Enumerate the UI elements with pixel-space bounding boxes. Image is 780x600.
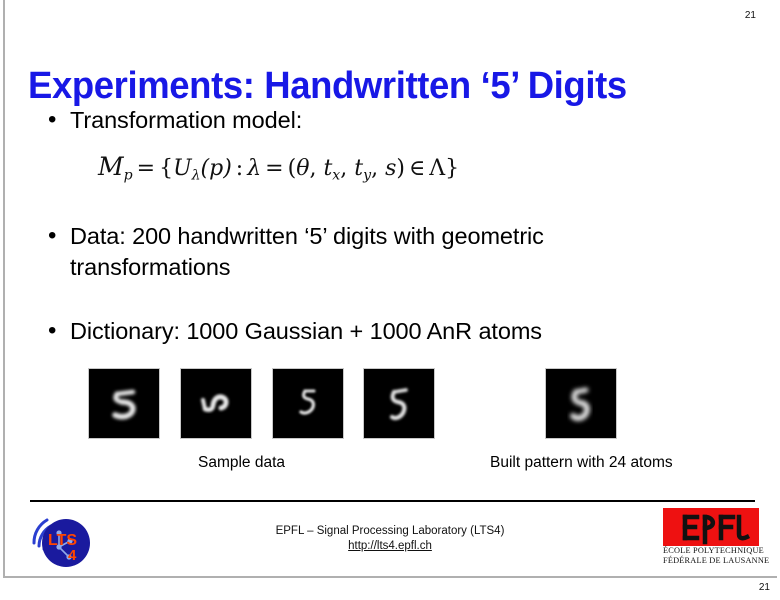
svg-text:4: 4 [68, 547, 77, 564]
formula-s: s [385, 156, 396, 181]
sample-digit-2 [181, 369, 251, 438]
digit-glyph-2 [181, 369, 251, 438]
epfl-logo: ÉCOLE POLYTECHNIQUE FÉDÉRALE DE LAUSANNE [663, 508, 759, 570]
formula-ty-subscript: y [363, 168, 371, 184]
built-pattern [546, 369, 616, 438]
digit-glyph-4 [364, 369, 434, 438]
formula-colon: : [232, 156, 247, 181]
sample-digit-3 [273, 369, 343, 438]
digit-image-row [0, 369, 780, 439]
bullet-dot-icon: • [48, 221, 70, 251]
bullet-dot-icon: • [48, 105, 70, 135]
page-number-top: 21 [745, 10, 756, 21]
formula-U: U [173, 156, 192, 181]
bullet-text-data: Data: 200 handwritten ‘5’ digits with ge… [70, 221, 660, 283]
digit-glyph-3 [273, 369, 343, 438]
formula-tx: t [323, 156, 332, 181]
bullet-item-data: • Data: 200 handwritten ‘5’ digits with … [48, 221, 660, 283]
formula-comma-1: , [309, 156, 323, 181]
formula-manifold-symbol: M [98, 152, 124, 181]
sample-digit-4 [364, 369, 434, 438]
slide-root: 21 Experiments: Handwritten ‘5’ Digits •… [0, 0, 780, 600]
formula-element-of: ∈ [405, 156, 429, 181]
footer-website-link[interactable]: http://lts4.epfl.ch [348, 540, 432, 552]
formula-ty: t [354, 156, 363, 181]
formula-open-brace: { [159, 156, 173, 181]
formula-big-lambda: Λ [429, 156, 445, 181]
formula-comma-3: , [371, 156, 385, 181]
formula-lambda: λ [247, 156, 261, 181]
digit-glyph-1 [89, 369, 159, 438]
page-title: Experiments: Handwritten ‘5’ Digits [28, 65, 729, 108]
bullet-item-dictionary: • Dictionary: 1000 Gaussian + 1000 AnR a… [48, 316, 750, 347]
epfl-subtitle-line1: ÉCOLE POLYTECHNIQUE [663, 546, 759, 556]
slide-body: • Transformation model: • Data: 200 hand… [0, 105, 780, 347]
transformation-model-formula: Mp={Uλ(p):λ=(θ, tx, ty, s)∈Λ} [98, 152, 459, 184]
bullet-text-dictionary: Dictionary: 1000 Gaussian + 1000 AnR ato… [70, 316, 750, 347]
bullet-text-transformation-model: Transformation model: [70, 105, 750, 136]
epfl-subtitle-line2: FÉDÉRALE DE LAUSANNE [663, 556, 759, 566]
epfl-wordmark-icon [663, 508, 759, 546]
formula-manifold-subscript: p [124, 168, 133, 184]
lts4-logo: LTS 4 [28, 513, 102, 571]
formula-U-subscript: λ [192, 168, 201, 184]
digit-glyph-built [546, 369, 616, 438]
caption-sample-data: Sample data [198, 454, 285, 472]
formula-argument: (p) [201, 156, 232, 181]
formula-close-brace: } [445, 156, 459, 181]
epfl-logo-subtitle: ÉCOLE POLYTECHNIQUE FÉDÉRALE DE LAUSANNE [663, 546, 759, 566]
formula-equals: = [133, 156, 159, 181]
page-number-bottom: 21 [759, 582, 770, 593]
lts4-logo-icon: LTS 4 [28, 513, 102, 571]
formula-comma-2: , [340, 156, 354, 181]
bullet-item-transformation-model: • Transformation model: [48, 105, 750, 136]
formula-equals-2: = [261, 156, 287, 181]
bullet-dot-icon: • [48, 316, 70, 346]
formula-params-open: ( [288, 156, 297, 181]
figure-captions: Sample data Built pattern with 24 atoms [0, 454, 780, 476]
caption-built-pattern: Built pattern with 24 atoms [490, 454, 673, 472]
formula-theta: θ [296, 156, 309, 181]
footer-divider [30, 500, 755, 502]
formula-params-close: ) [396, 156, 405, 181]
sample-digit-1 [89, 369, 159, 438]
